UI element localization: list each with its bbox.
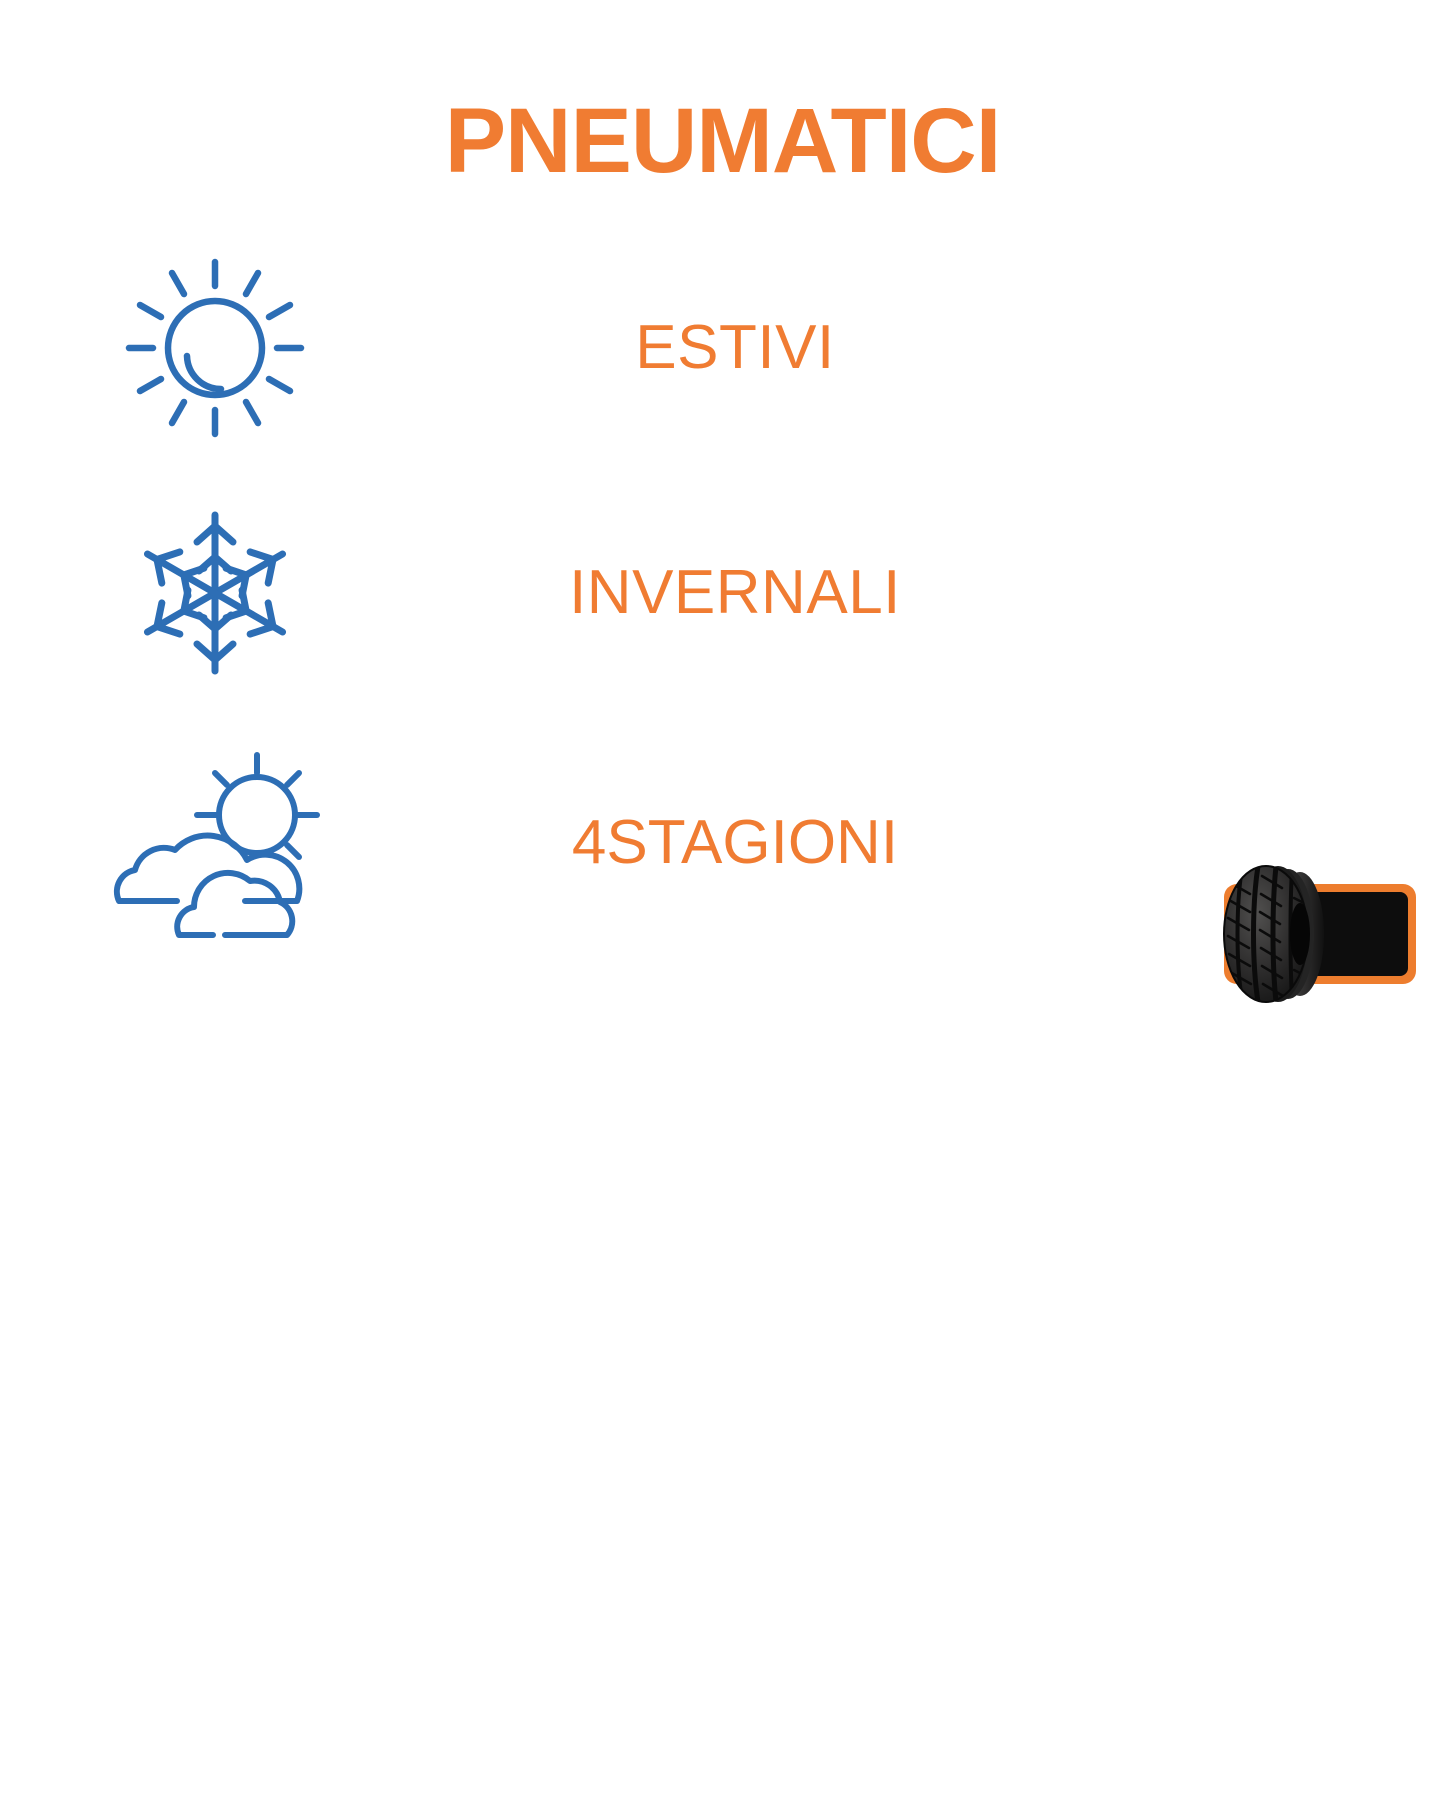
tyre-type-row-estivi: ESTIVI: [0, 243, 1040, 453]
tyre-type-label-estivi: ESTIVI: [635, 317, 834, 379]
sun-icon: [0, 243, 430, 453]
tyre-type-label-cell: INVERNALI: [430, 488, 1040, 698]
tyre-type-label-cell: ESTIVI: [430, 243, 1040, 453]
page-title: PNEUMATICI: [0, 95, 1445, 187]
tyre-type-row-invernali: INVERNALI: [0, 488, 1040, 698]
tyre-type-label-4stagioni: 4STAGIONI: [572, 812, 898, 874]
snowflake-icon: [0, 488, 430, 698]
brand-logo[interactable]: REGOMMA: [1196, 860, 1428, 1008]
tyre-type-row-4stagioni: 4STAGIONI: [0, 738, 1040, 948]
tyre-type-label-invernali: INVERNALI: [569, 562, 901, 624]
sun-behind-clouds-icon: [0, 738, 430, 948]
tyre-type-label-cell: 4STAGIONI: [430, 738, 1040, 948]
